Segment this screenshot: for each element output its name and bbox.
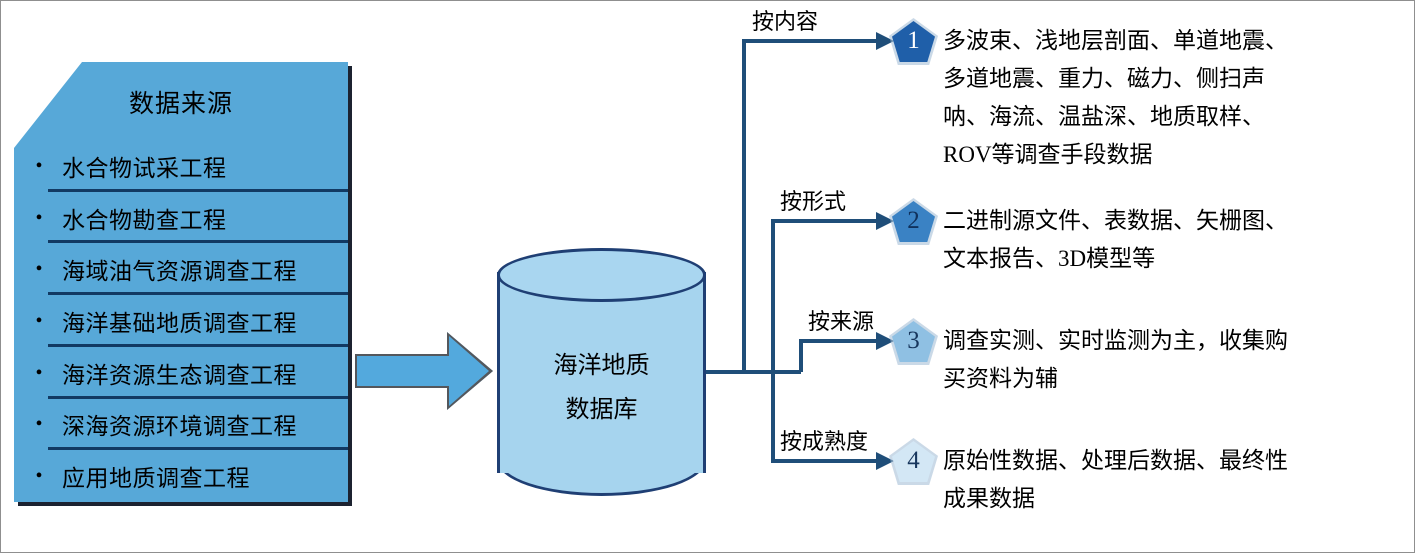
badge-number: 1 [907, 28, 920, 55]
badge-number: 4 [907, 448, 920, 475]
branch-label: 按内容 [752, 4, 818, 36]
branch-label: 按来源 [808, 304, 874, 336]
branch-label: 按成熟度 [780, 424, 868, 456]
branch-text: 多波束、浅地层剖面、单道地震、 多道地震、重力、磁力、侧扫声 呐、海流、温盐深、… [943, 22, 1288, 174]
badge-number: 3 [907, 328, 920, 355]
branch-text: 原始性数据、处理后数据、最终性 成果数据 [943, 442, 1288, 518]
badge-2[interactable]: 2 [892, 201, 935, 242]
badge-1[interactable]: 1 [892, 21, 935, 62]
branch-label: 按形式 [780, 184, 846, 216]
badge-3[interactable]: 3 [892, 321, 935, 362]
diagram-canvas: 数据来源 • 水合物试采工程 • 水合物勘查工程 • 海域油气资源调查工程 [0, 0, 1417, 555]
branch-text: 调查实测、实时监测为主，收集购 买资料为辅 [943, 322, 1288, 398]
badge-number: 2 [907, 208, 920, 235]
badge-4[interactable]: 4 [892, 441, 935, 482]
branch-text: 二进制源文件、表数据、矢栅图、 文本报告、3D模型等 [943, 202, 1288, 278]
